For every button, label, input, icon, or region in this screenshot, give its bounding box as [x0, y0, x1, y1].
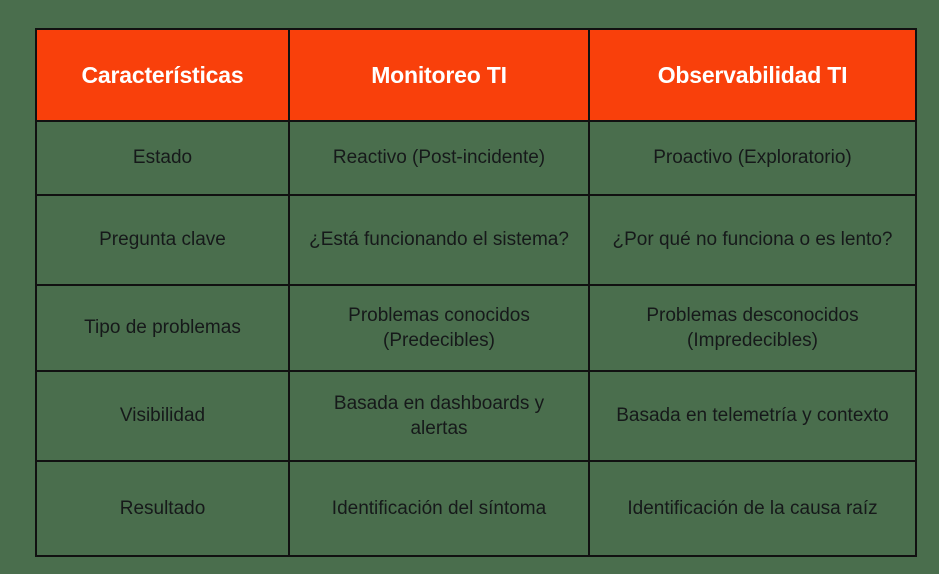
- cell-monitoreo-visibilidad: Basada en dashboards y alertas: [289, 371, 589, 461]
- cell-observabilidad-estado: Proactivo (Exploratorio): [589, 121, 916, 195]
- page-root: Características Monitoreo TI Observabili…: [0, 0, 939, 574]
- comparison-table: Características Monitoreo TI Observabili…: [35, 28, 917, 557]
- cell-observabilidad-visibilidad: Basada en telemetría y contexto: [589, 371, 916, 461]
- cell-observabilidad-tipo-de-problemas: Problemas desconocidos (Impredecibles): [589, 285, 916, 371]
- table-row: Pregunta clave ¿Está funcionando el sist…: [36, 195, 916, 285]
- table-row: Estado Reactivo (Post-incidente) Proacti…: [36, 121, 916, 195]
- cell-feature-estado: Estado: [36, 121, 289, 195]
- table-header: Características Monitoreo TI Observabili…: [36, 29, 916, 121]
- cell-monitoreo-estado: Reactivo (Post-incidente): [289, 121, 589, 195]
- table-row: Visibilidad Basada en dashboards y alert…: [36, 371, 916, 461]
- table-row: Resultado Identificación del síntoma Ide…: [36, 461, 916, 556]
- cell-observabilidad-resultado: Identificación de la causa raíz: [589, 461, 916, 556]
- cell-feature-tipo-de-problemas: Tipo de problemas: [36, 285, 289, 371]
- cell-observabilidad-pregunta-clave: ¿Por qué no funciona o es lento?: [589, 195, 916, 285]
- table-row: Tipo de problemas Problemas conocidos (P…: [36, 285, 916, 371]
- table-header-row: Características Monitoreo TI Observabili…: [36, 29, 916, 121]
- cell-feature-visibilidad: Visibilidad: [36, 371, 289, 461]
- cell-monitoreo-pregunta-clave: ¿Está funcionando el sistema?: [289, 195, 589, 285]
- column-header-caracteristicas: Características: [36, 29, 289, 121]
- cell-feature-pregunta-clave: Pregunta clave: [36, 195, 289, 285]
- cell-feature-resultado: Resultado: [36, 461, 289, 556]
- table-body: Estado Reactivo (Post-incidente) Proacti…: [36, 121, 916, 556]
- column-header-observabilidad: Observabilidad TI: [589, 29, 916, 121]
- cell-monitoreo-resultado: Identificación del síntoma: [289, 461, 589, 556]
- cell-monitoreo-tipo-de-problemas: Problemas conocidos (Predecibles): [289, 285, 589, 371]
- column-header-monitoreo: Monitoreo TI: [289, 29, 589, 121]
